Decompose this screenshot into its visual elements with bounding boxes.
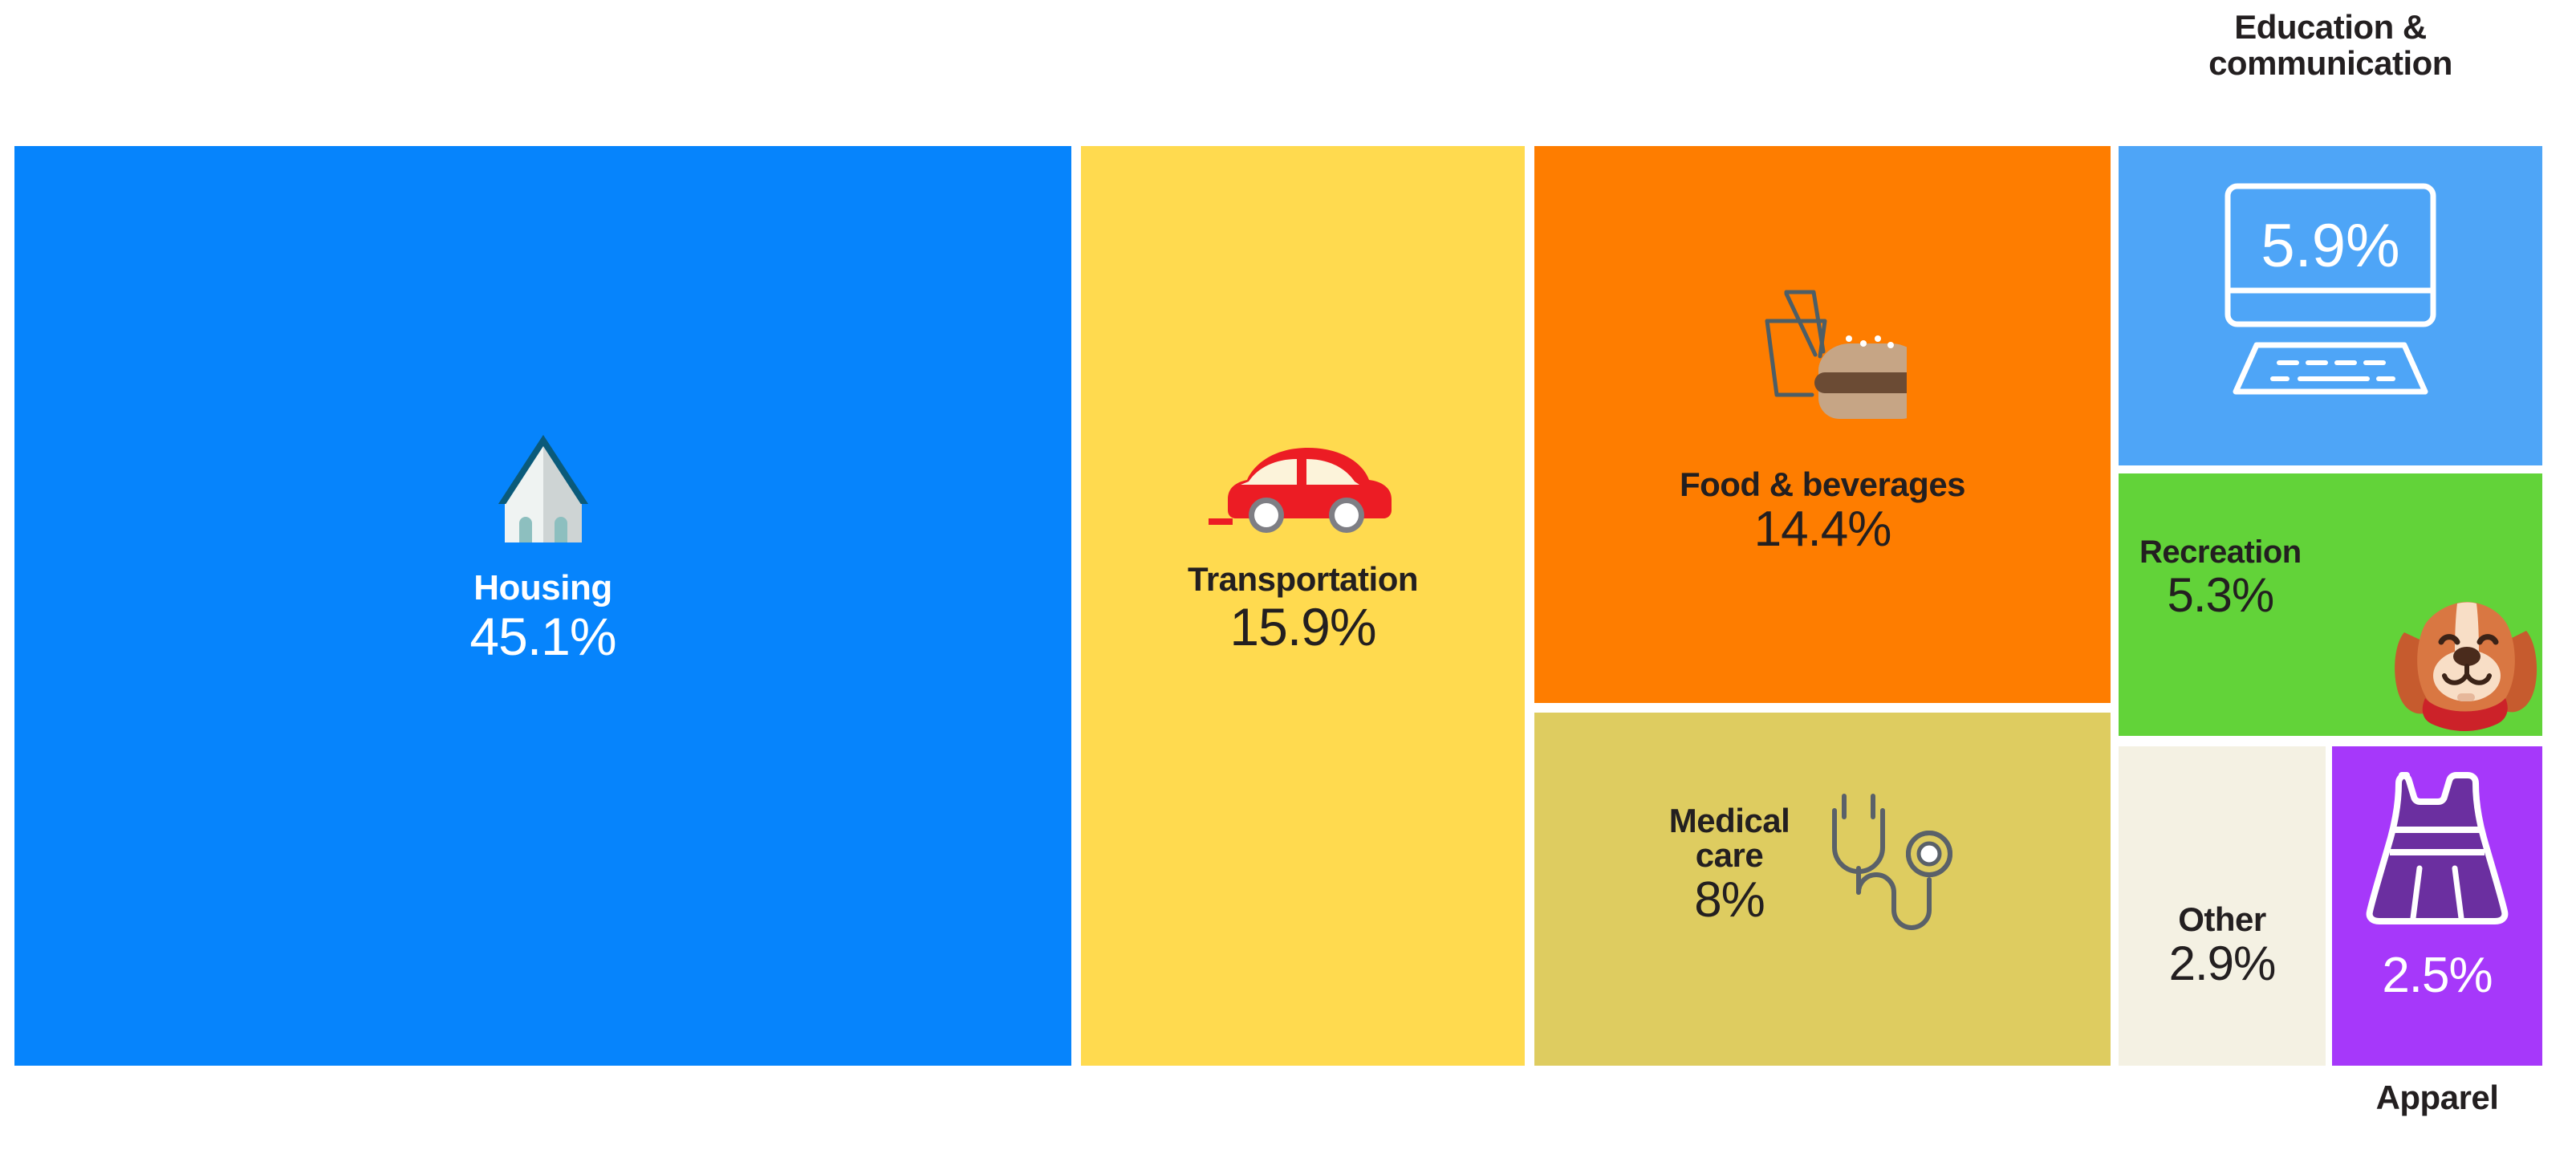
medical-label-line2: care: [1696, 839, 1763, 873]
housing-content: Housing 45.1%: [14, 401, 1071, 664]
recreation-text-group: Recreation 5.3%: [2139, 536, 2302, 620]
apparel-outside-label: Apparel: [2332, 1080, 2542, 1116]
dress-icon: [2357, 764, 2517, 937]
medical-label-line1: Medical: [1669, 804, 1790, 839]
transportation-value: 15.9%: [1229, 600, 1375, 654]
treemap-tile-housing[interactable]: Housing 45.1%: [14, 146, 1071, 1066]
education-label-line1: Education &: [2119, 10, 2542, 46]
apparel-value: 2.5%: [2332, 947, 2542, 1004]
stethoscope-icon: [1823, 786, 1976, 943]
food-label: Food & beverages: [1680, 468, 1965, 502]
treemap-tile-apparel[interactable]: 2.5%: [2332, 746, 2542, 1066]
recreation-value: 5.3%: [2167, 571, 2273, 620]
medical-value: 8%: [1694, 875, 1765, 925]
education-value: 5.9%: [2261, 212, 2399, 280]
treemap-tile-other[interactable]: Other 2.9%: [2119, 746, 2326, 1066]
treemap-tile-medical-care[interactable]: Medical care 8%: [1534, 713, 2111, 1066]
medical-text-group: Medical care 8%: [1669, 804, 1790, 925]
medical-content: Medical care 8%: [1534, 786, 2111, 943]
computer-icon: 5.9%: [2210, 172, 2451, 416]
other-content: Other 2.9%: [2119, 903, 2326, 988]
housing-value: 45.1%: [469, 610, 616, 664]
food-content: Food & beverages 14.4%: [1534, 274, 2111, 555]
car-icon: [1209, 435, 1398, 542]
transportation-label: Transportation: [1188, 563, 1418, 597]
dog-icon-wrap: [2380, 592, 2542, 736]
treemap-tile-transportation[interactable]: Transportation 15.9%: [1081, 146, 1525, 1066]
treemap-tile-education-communication[interactable]: 5.9%: [2119, 146, 2542, 465]
apparel-content: [2332, 764, 2542, 937]
burger-drink-icon: [1738, 274, 1907, 447]
other-label: Other: [2178, 903, 2266, 937]
treemap-tile-recreation[interactable]: Recreation 5.3%: [2119, 473, 2542, 736]
recreation-label: Recreation: [2139, 536, 2302, 569]
dog-icon: [2380, 726, 2542, 736]
education-outside-label: Education & communication: [2119, 10, 2542, 81]
education-label-line2: communication: [2119, 46, 2542, 82]
housing-label: Housing: [473, 571, 611, 607]
education-content: 5.9%: [2119, 172, 2542, 416]
other-value: 2.9%: [2169, 939, 2276, 988]
house-icon: [473, 401, 614, 546]
treemap-tile-food-beverages[interactable]: Food & beverages 14.4%: [1534, 146, 2111, 703]
transportation-content: Transportation 15.9%: [1081, 435, 1525, 654]
treemap-chart: Housing 45.1% Transportation 15.9%: [0, 0, 2576, 1162]
food-value: 14.4%: [1754, 504, 1891, 555]
